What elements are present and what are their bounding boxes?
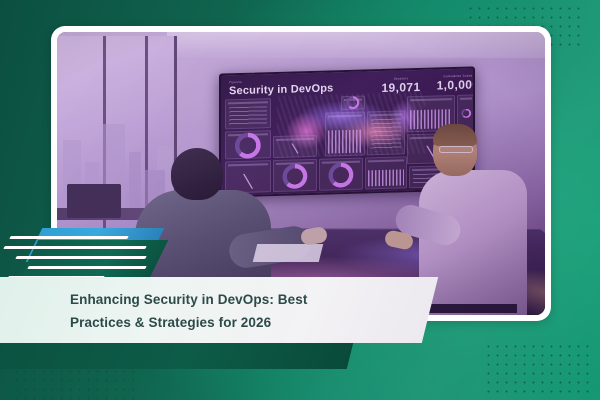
dot-pattern-bottom-right bbox=[484, 342, 592, 398]
speed-line bbox=[9, 236, 128, 239]
page-title-line1: Enhancing Security in DevOps: Best bbox=[70, 288, 400, 311]
decor-green-bar bbox=[0, 343, 353, 369]
speed-line bbox=[27, 266, 146, 269]
speed-line bbox=[3, 246, 146, 249]
page-title-line2: Practices & Strategies for 2026 bbox=[70, 311, 400, 334]
page-title: Enhancing Security in DevOps: Best Pract… bbox=[70, 288, 400, 334]
speed-line bbox=[15, 256, 146, 259]
